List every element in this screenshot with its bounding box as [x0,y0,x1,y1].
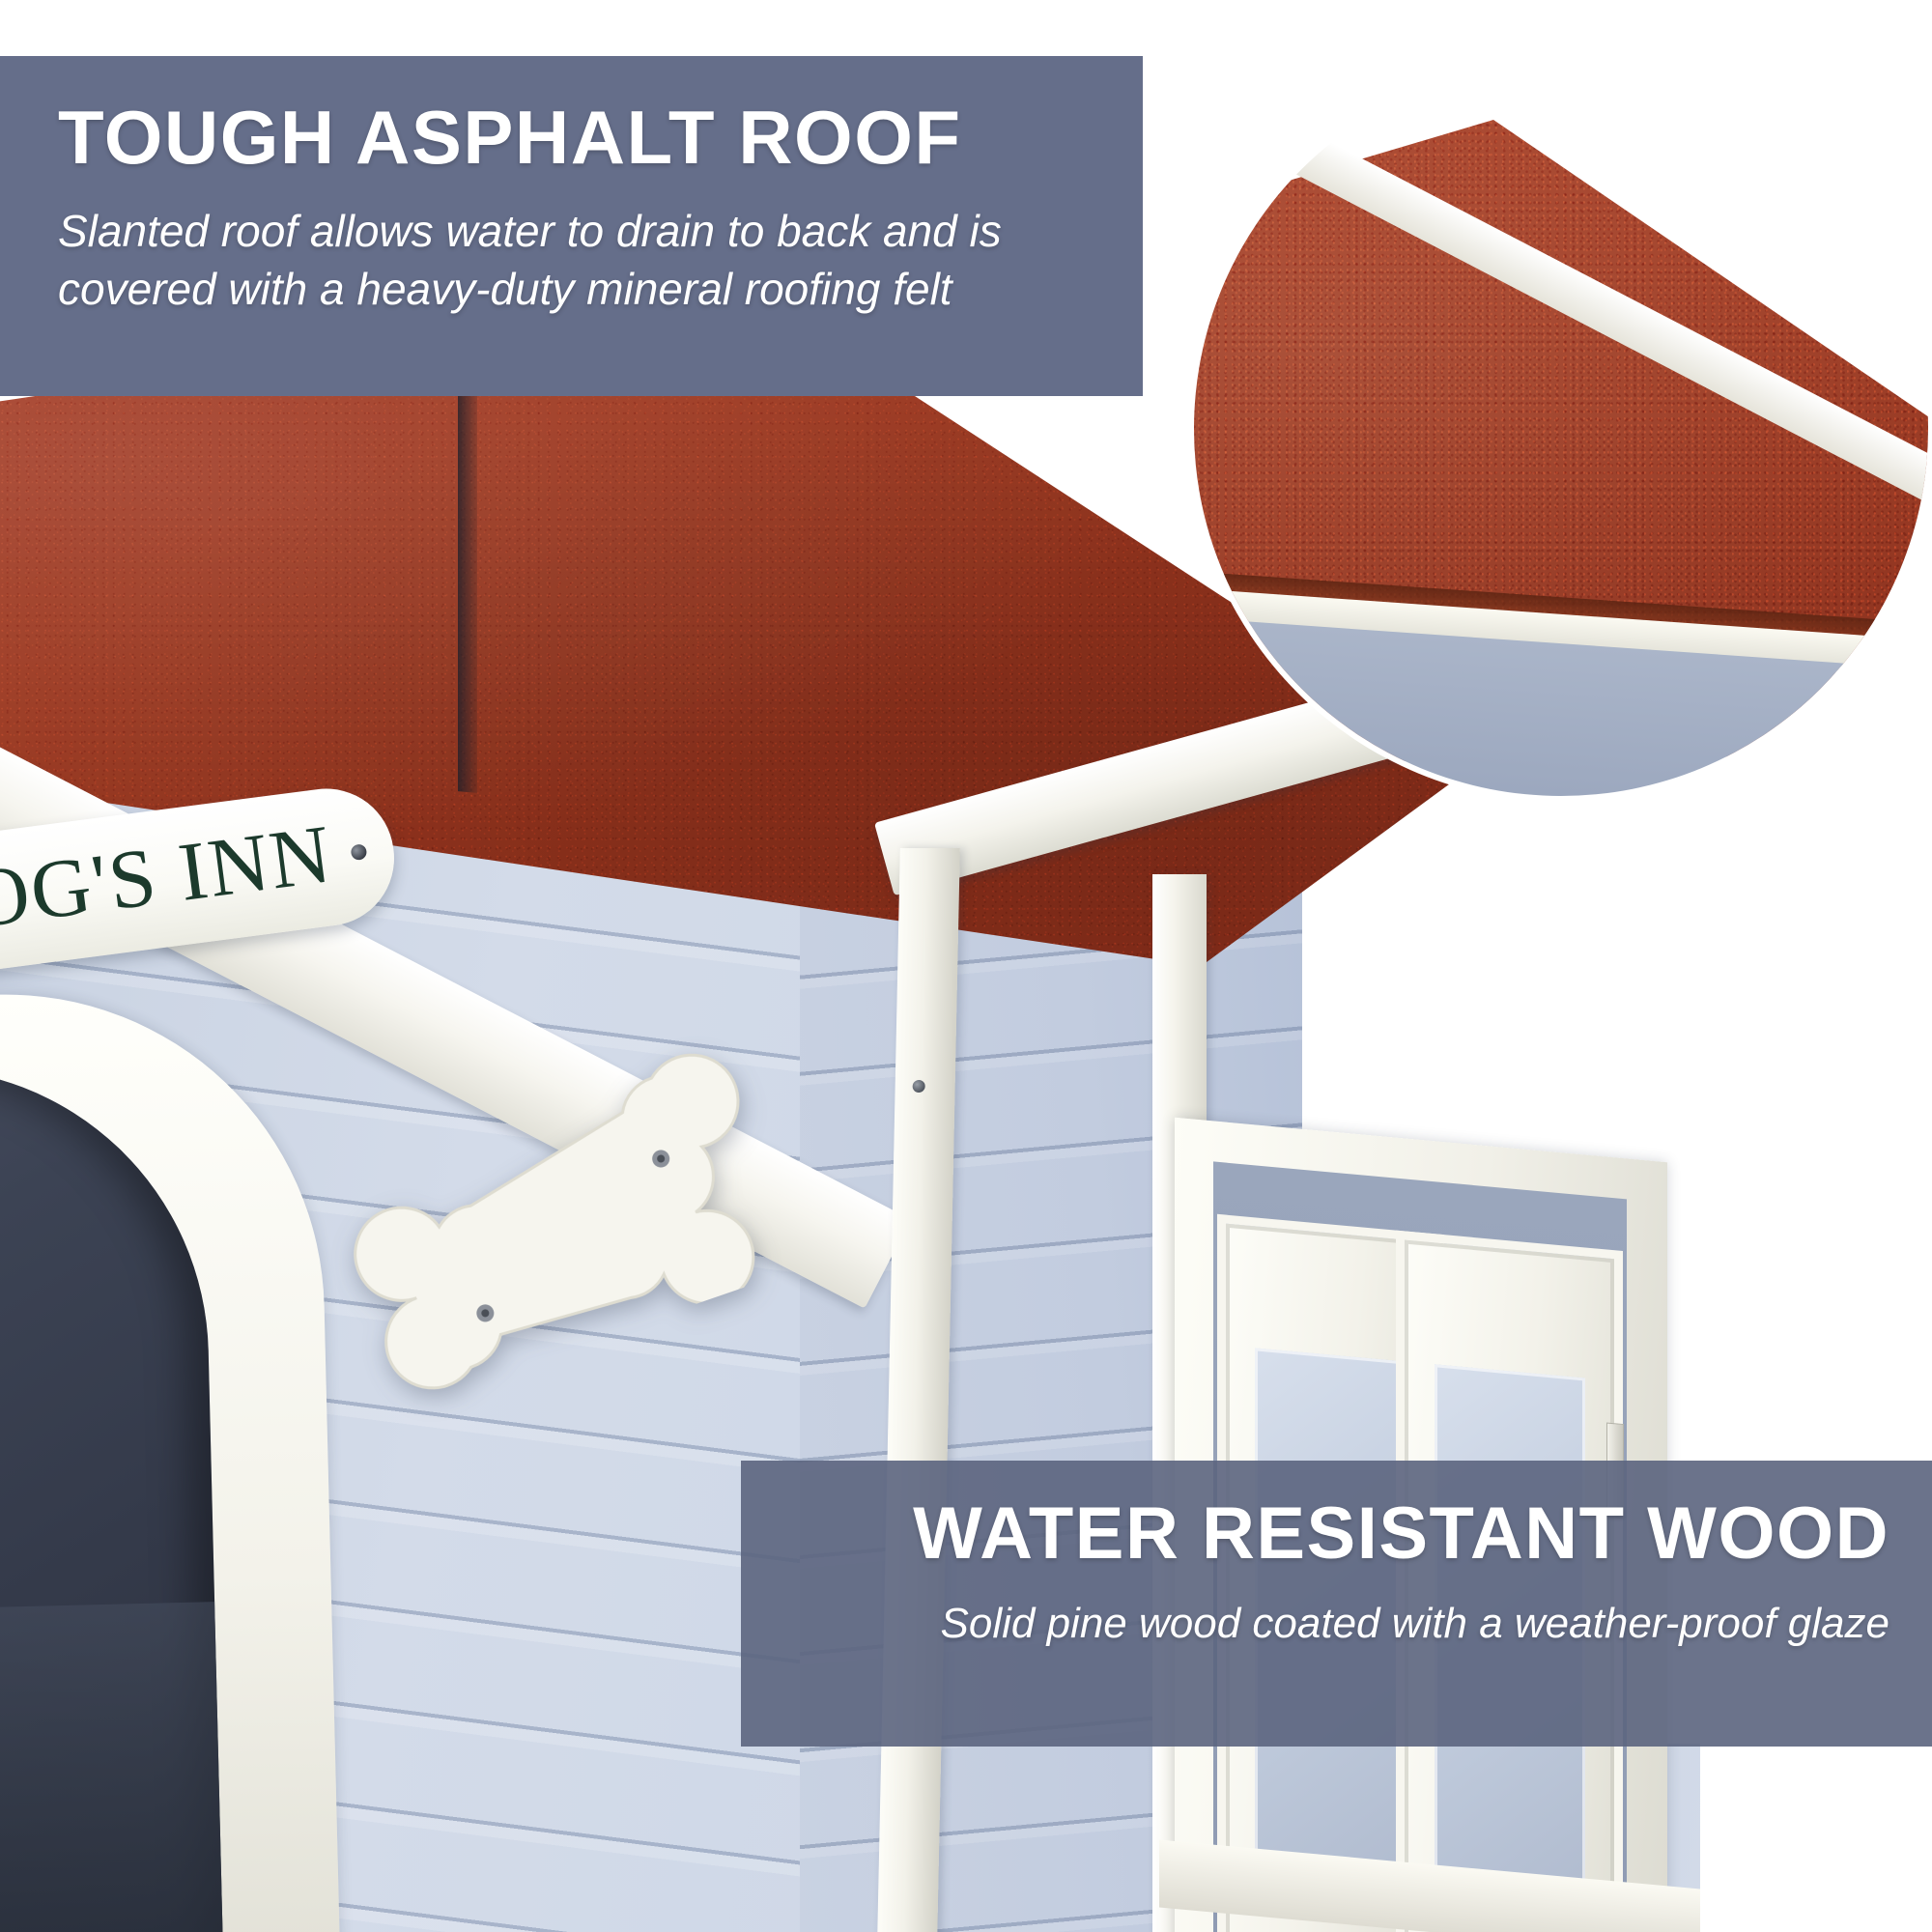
feature-panel-wood: WATER RESISTANT WOOD Solid pine wood coa… [741,1461,1932,1747]
door-interior-floor [0,1602,223,1932]
nameplate-label: DOG'S INN [0,811,337,949]
roof-subtitle-line-1: Slanted roof allows water to drain to ba… [58,206,1002,256]
screw-icon [350,843,367,861]
product-feature-image: DOG'S INN [0,0,1932,1932]
feature-panel-roof: TOUGH ASPHALT ROOF Slanted roof allows w… [0,56,1143,396]
feature-panel-wood-title: WATER RESISTANT WOOD [783,1495,1889,1573]
feature-panel-roof-title: TOUGH ASPHALT ROOF [58,99,1085,178]
feature-panel-roof-subtitle: Slanted roof allows water to drain to ba… [58,203,1085,319]
feature-panel-wood-subtitle: Solid pine wood coated with a weather-pr… [783,1596,1889,1651]
post-screw-icon [913,1080,925,1093]
roof-closeup-inset [1194,62,1928,796]
roof-subtitle-line-2: covered with a heavy-duty mineral roofin… [58,264,952,314]
